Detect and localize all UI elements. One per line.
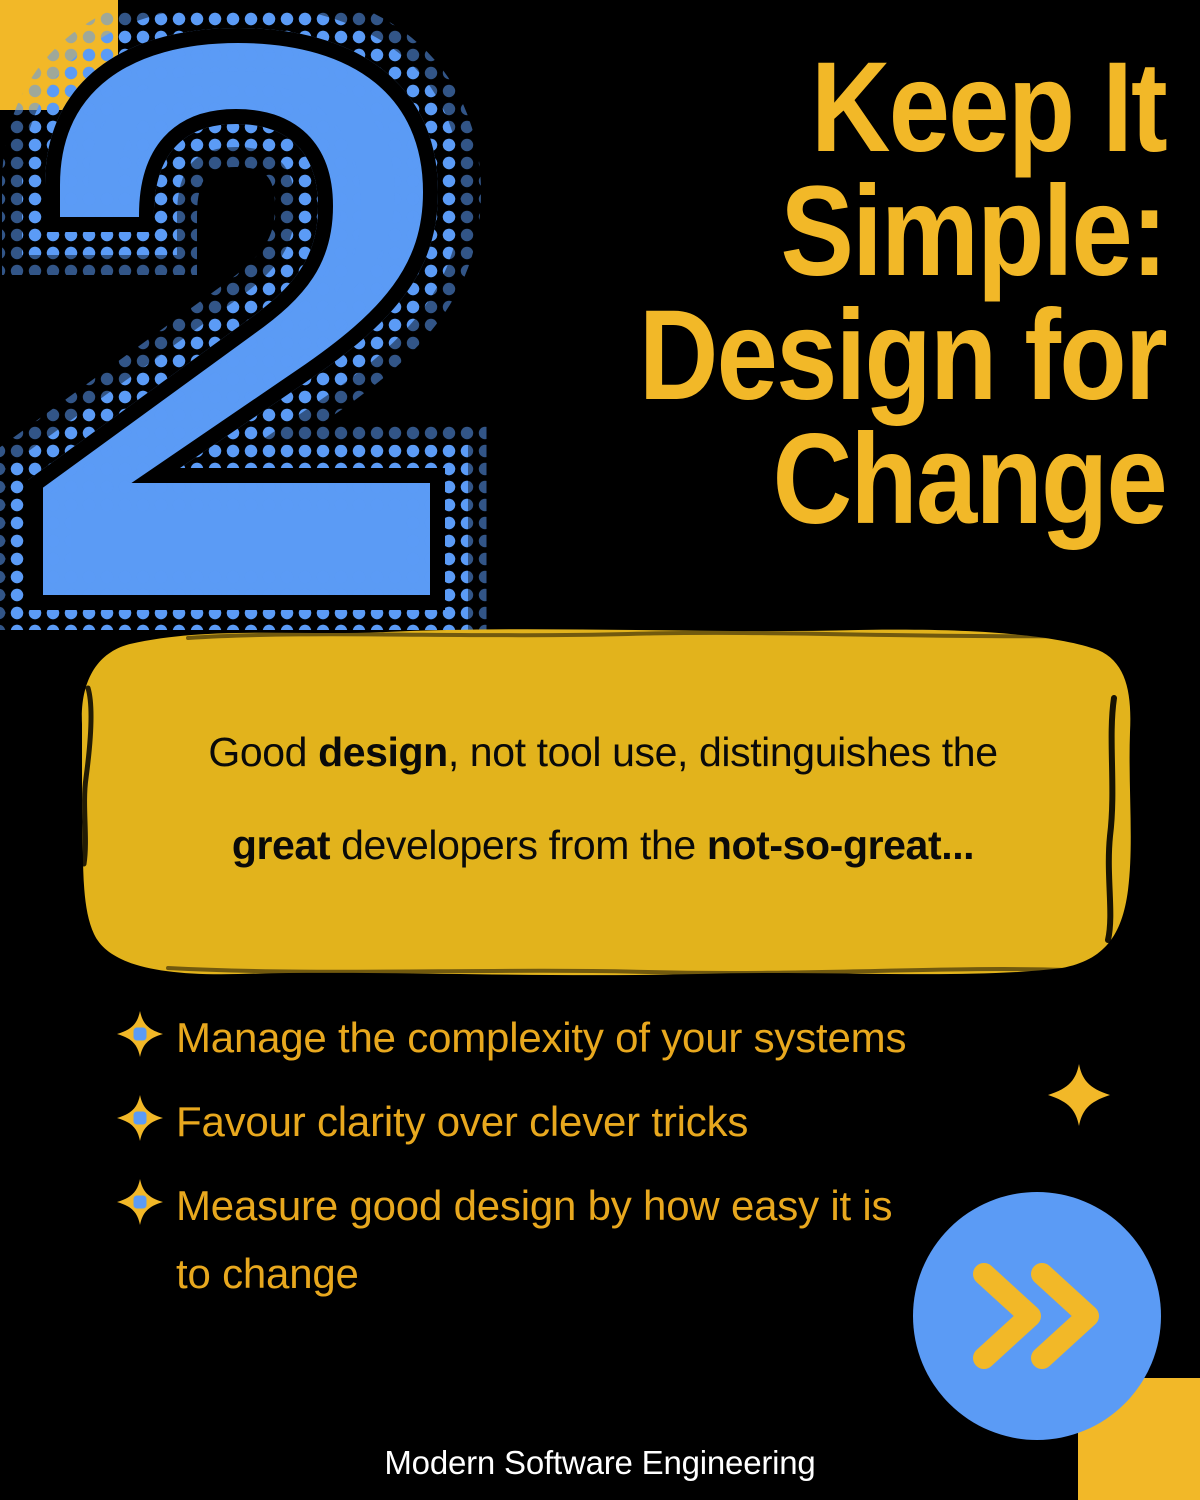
quote-seg: , not tool use, distinguishes the	[448, 729, 998, 775]
quote-text: Good design, not tool use, distinguishes…	[112, 732, 1094, 866]
list-item: Manage the complexity of your systems	[116, 1004, 916, 1072]
headline-line-3: Design for	[616, 294, 1166, 418]
poster-headline: Keep It Simple: Design for Change	[616, 46, 1166, 543]
sparkle-star-icon	[116, 1178, 164, 1226]
list-item: Favour clarity over clever tricks	[116, 1088, 916, 1156]
footer-source-label: Modern Software Engineering	[0, 1444, 1200, 1482]
sparkle-star-icon	[116, 1010, 164, 1058]
quote-seg: developers from the	[330, 822, 707, 868]
numeral-two-graphic	[0, 10, 500, 630]
quote-seg-bold: design	[318, 729, 448, 775]
sparkle-icon	[1046, 1062, 1112, 1128]
sparkle-star-icon	[116, 1094, 164, 1142]
key-points-list: Manage the complexity of your systems Fa…	[116, 1004, 916, 1308]
quote-seg-bold: not-so-great...	[707, 822, 974, 868]
list-item-label: Manage the complexity of your systems	[164, 1004, 906, 1072]
quote-line-2: great developers from the not-so-great..…	[112, 825, 1094, 866]
double-chevron-badge[interactable]	[913, 1192, 1161, 1440]
list-item: Measure good design by how easy it is to…	[116, 1172, 916, 1308]
quote-seg-bold: great	[232, 822, 330, 868]
headline-line-4: Change	[616, 418, 1166, 542]
double-chevron-right-icon	[962, 1256, 1112, 1376]
poster-canvas: Keep It Simple: Design for Change Good d…	[0, 0, 1200, 1500]
quote-seg: Good	[208, 729, 318, 775]
quote-callout: Good design, not tool use, distinguishes…	[68, 628, 1138, 976]
headline-line-1: Keep It	[616, 46, 1166, 170]
headline-line-2: Simple:	[616, 170, 1166, 294]
quote-line-1: Good design, not tool use, distinguishes…	[112, 732, 1094, 773]
list-item-label: Measure good design by how easy it is to…	[164, 1172, 916, 1308]
list-item-label: Favour clarity over clever tricks	[164, 1088, 748, 1156]
